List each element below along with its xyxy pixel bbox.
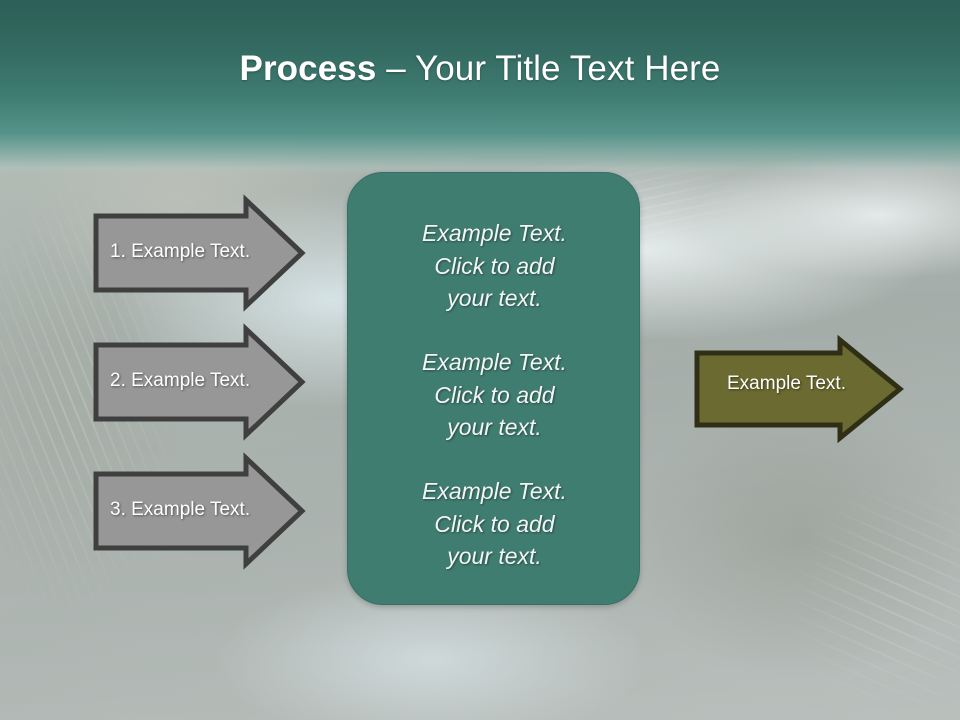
panel-text-block-3[interactable]: Example Text. Click to add your text. [348, 475, 641, 573]
arrow-right-icon [93, 325, 305, 439]
arrow-right-icon [93, 196, 305, 310]
page-title-bold: Process [240, 49, 377, 88]
panel-text-block-1[interactable]: Example Text. Click to add your text. [348, 217, 641, 315]
center-content-panel[interactable]: Example Text. Click to add your text. Ex… [347, 172, 640, 605]
outcome-arrow[interactable]: Example Text. [694, 337, 904, 441]
arrow-right-icon [93, 454, 305, 568]
slide-canvas: Process – Your Title Text Here Example T… [0, 0, 960, 720]
step-arrow-1[interactable]: 1. Example Text. [93, 196, 305, 310]
step-arrow-2[interactable]: 2. Example Text. [93, 325, 305, 439]
step-arrow-3[interactable]: 3. Example Text. [93, 454, 305, 568]
panel-text-block-2[interactable]: Example Text. Click to add your text. [348, 346, 641, 444]
arrow-right-icon [694, 337, 904, 441]
page-title-rest: – Your Title Text Here [376, 49, 720, 88]
page-title: Process – Your Title Text Here [0, 47, 960, 91]
